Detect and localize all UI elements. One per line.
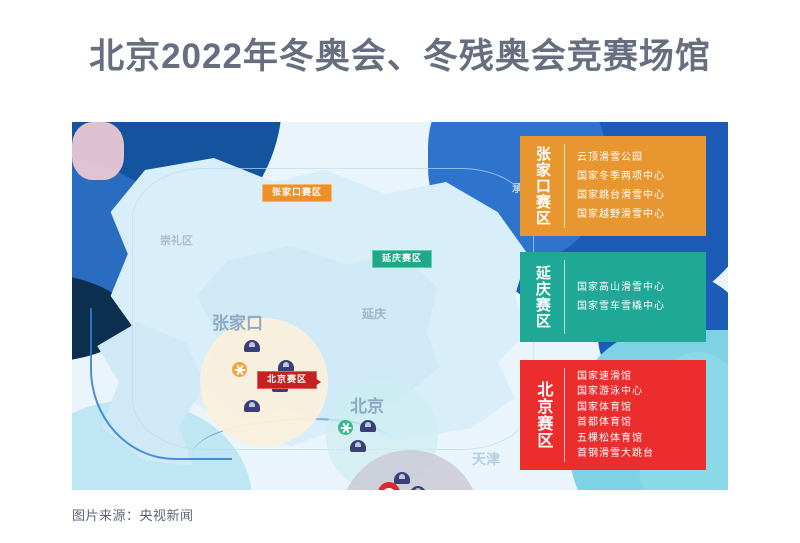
map-label-tianjin: 天津	[472, 452, 500, 466]
image-source-caption: 图片来源：央视新闻	[72, 505, 194, 524]
map-label-yanqing: 延庆	[362, 308, 386, 320]
legend-venue-item: 国家雪车雪橇中心	[577, 297, 706, 316]
legend-venue-item: 国家速滑馆	[577, 369, 706, 385]
stadium-marker-icon[interactable]	[244, 340, 260, 352]
legend-panel-yanqing[interactable]: 延庆赛区 国家高山滑雪中心 国家雪车雪橇中心	[520, 252, 706, 342]
stadium-marker-icon[interactable]	[244, 400, 260, 412]
legend-venue-list-beijing: 国家速滑馆 国家游泳中心 国家体育馆 首都体育馆 五棵松体育馆 首钢滑雪大跳台	[565, 360, 706, 470]
map-label-zhangjiakou: 张家口	[212, 315, 263, 332]
stadium-marker-icon[interactable]	[350, 440, 366, 452]
legend-panel-beijing[interactable]: 北京赛区 国家速滑馆 国家游泳中心 国家体育馆 首都体育馆 五棵松体育馆 首钢滑…	[520, 360, 706, 470]
page-title: 北京2022年冬奥会、冬残奥会竞赛场馆	[0, 28, 800, 79]
stadium-marker-icon[interactable]	[410, 486, 426, 490]
legend-venue-item: 国家冬季两项中心	[577, 167, 706, 186]
legend-venue-item: 五棵松体育馆	[577, 431, 706, 447]
snowflake-marker-icon[interactable]	[232, 362, 247, 377]
map-badge-yanqing[interactable]: 延庆赛区	[372, 250, 432, 268]
map-label-chongli: 崇礼区	[160, 236, 193, 247]
legend-venue-item: 国家跳台滑雪中心	[577, 186, 706, 205]
legend-venue-item: 国家高山滑雪中心	[577, 278, 706, 297]
map-canvas: 张家口赛区 延庆赛区 北京赛区 张家口 崇礼区 延庆 北京 承德 天津	[72, 122, 592, 490]
legend-panel-zhangjiakou[interactable]: 张家口赛区 云顶滑雪公园 国家冬季两项中心 国家跳台滑雪中心 国家越野滑雪中心	[520, 136, 706, 236]
legend-panel-title-yanqing: 延庆赛区	[520, 252, 564, 342]
legend-panel-title-beijing: 北京赛区	[520, 360, 564, 470]
cluster-halo-pink	[72, 122, 124, 180]
legend-venue-list-yanqing: 国家高山滑雪中心 国家雪车雪橇中心	[565, 252, 706, 342]
legend-venue-item: 首钢滑雪大跳台	[577, 446, 706, 462]
legend-panel-title-zhangjiakou: 张家口赛区	[520, 136, 564, 236]
legend-venue-item: 国家越野滑雪中心	[577, 205, 706, 224]
legend-venue-list-zhangjiakou: 云顶滑雪公园 国家冬季两项中心 国家跳台滑雪中心 国家越野滑雪中心	[565, 136, 706, 236]
legend-venue-item: 国家体育馆	[577, 400, 706, 416]
stadium-marker-icon[interactable]	[360, 420, 376, 432]
stadium-marker-icon[interactable]	[394, 472, 410, 484]
infographic-image: 张家口赛区 延庆赛区 北京赛区 张家口 崇礼区 延庆 北京 承德 天津 张家口赛…	[72, 122, 728, 490]
snowflake-marker-icon[interactable]	[338, 420, 353, 435]
map-badge-beijing[interactable]: 北京赛区	[257, 371, 317, 389]
map-label-beijing: 北京	[350, 398, 384, 415]
legend-venue-item: 云顶滑雪公园	[577, 148, 706, 167]
legend-venue-item: 首都体育馆	[577, 415, 706, 431]
legend-venue-item: 国家游泳中心	[577, 384, 706, 400]
map-badge-zhangjiakou[interactable]: 张家口赛区	[262, 184, 332, 202]
